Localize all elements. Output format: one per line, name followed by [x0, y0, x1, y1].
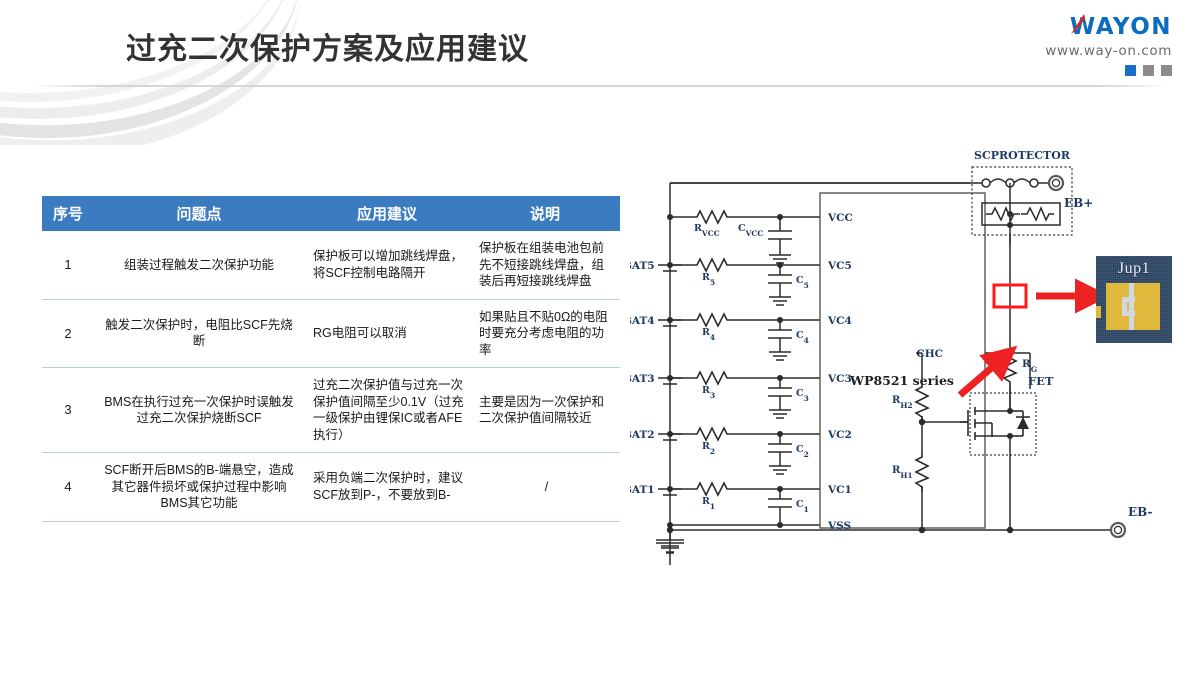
logo-square-3: [1161, 65, 1172, 76]
cell-no: 3: [42, 368, 94, 453]
label-r1: R1: [702, 496, 715, 511]
label-c2: C2: [796, 444, 809, 459]
terminal-eb-plus: EB+: [1064, 196, 1093, 210]
table-row: 1组装过程触发二次保护功能保护板可以增加跳线焊盘，将SCF控制电路隔开保护板在组…: [42, 231, 620, 299]
table-body: 1组装过程触发二次保护功能保护板可以增加跳线焊盘，将SCF控制电路隔开保护板在组…: [42, 231, 620, 521]
table-row: 3BMS在执行过充一次保护时误触发过充二次保护烧断SCF过充二次保护值与过充一次…: [42, 368, 620, 453]
label-c3: C3: [796, 388, 809, 403]
pin-vcc: VCC: [827, 212, 853, 224]
label-bat4: BAT4: [630, 315, 655, 327]
label-r2: R2: [702, 441, 715, 456]
pin-vc2: VC2: [827, 429, 852, 441]
label-r3: R3: [702, 385, 715, 400]
logo-url: www.way-on.com: [992, 43, 1172, 59]
cell-no: 4: [42, 453, 94, 522]
pin-chc: CHC: [916, 348, 943, 360]
circuit-schematic: BAT5 BAT4 BAT3 BAT2 BAT1: [630, 135, 1190, 565]
label-c4: C4: [796, 330, 809, 345]
cell-issue: SCF断开后BMS的B-端悬空，造成其它器件损坏或保护过程中影响BMS其它功能: [94, 453, 304, 522]
cell-no: 1: [42, 231, 94, 299]
pin-vc5: VC5: [827, 260, 852, 272]
protector-label: SCPROTECTOR: [974, 149, 1071, 162]
decorative-swoosh: [0, 0, 380, 145]
brand-logo: WAYON www.way-on.com: [992, 16, 1172, 76]
label-bat1: BAT1: [630, 484, 655, 496]
cell-no: 2: [42, 299, 94, 368]
label-bat5: BAT5: [630, 260, 655, 272]
cell-note: 保护板在组装电池包前先不短接跳线焊盘，组装后再短接跳线焊盘: [470, 231, 620, 299]
ic-label: WP8521 series: [849, 373, 954, 388]
cell-advice: 保护板可以增加跳线焊盘，将SCF控制电路隔开: [304, 231, 470, 299]
label-r5: R5: [702, 272, 715, 287]
cell-issue: BMS在执行过充一次保护时误触发过充二次保护烧断SCF: [94, 368, 304, 453]
label-bat3: BAT3: [630, 373, 655, 385]
label-cvcc: CVCC: [738, 223, 763, 238]
cell-advice: 过充二次保护值与过充一次保护值间隔至少0.1V（过充一级保护由锂保IC或者AFE…: [304, 368, 470, 453]
slide-canvas: 过充二次保护方案及应用建议 WAYON www.way-on.com 序号 问题…: [0, 0, 1200, 675]
logo-square-2: [1143, 65, 1154, 76]
rg-resistor: [1004, 348, 1016, 387]
terminal-eb-minus: EB-: [1128, 505, 1153, 519]
cell-note: 如果贴且不贴0Ω的电阻时要充分考虑电阻的功率: [470, 299, 620, 368]
pin-vc4: VC4: [827, 315, 852, 327]
table-row: 4SCF断开后BMS的B-端悬空，造成其它器件损坏或保护过程中影响BMS其它功能…: [42, 453, 620, 522]
label-c1: C1: [796, 499, 809, 514]
logo-square-1: [1125, 65, 1136, 76]
label-bat2: BAT2: [630, 429, 655, 441]
cell-issue: 组装过程触发二次保护功能: [94, 231, 304, 299]
table-row: 2触发二次保护时，电阻比SCF先烧断RG电阻可以取消如果贴且不贴0Ω的电阻时要充…: [42, 299, 620, 368]
label-c5: C5: [796, 275, 809, 290]
logo-wordmark: WAYON: [1070, 16, 1172, 39]
col-header-issue: 问题点: [94, 196, 304, 231]
jup1-label: Jup1: [1096, 260, 1172, 278]
pin-vc3: VC3: [827, 373, 852, 385]
logo-squares: [992, 65, 1172, 76]
col-header-no: 序号: [42, 196, 94, 231]
cell-issue: 触发二次保护时，电阻比SCF先烧断: [94, 299, 304, 368]
page-title: 过充二次保护方案及应用建议: [126, 24, 529, 68]
table-header-row: 序号 问题点 应用建议 说明: [42, 196, 620, 231]
label-fet: FET: [1028, 374, 1054, 388]
issue-table: 序号 问题点 应用建议 说明 1组装过程触发二次保护功能保护板可以增加跳线焊盘，…: [42, 196, 620, 522]
col-header-note: 说明: [470, 196, 620, 231]
jup1-pad-photo: Jup1: [1096, 256, 1172, 343]
cell-advice: 采用负端二次保护时，建议SCF放到P-，不要放到B-: [304, 453, 470, 522]
cell-advice: RG电阻可以取消: [304, 299, 470, 368]
cell-note: /: [470, 453, 620, 522]
label-rvcc: RVCC: [694, 223, 720, 238]
cell-note: 主要是因为一次保护和二次保护值间隔较近: [470, 368, 620, 453]
pin-vc1: VC1: [827, 484, 852, 496]
col-header-advice: 应用建议: [304, 196, 470, 231]
label-r4: R4: [702, 327, 715, 342]
header-divider: [30, 85, 1170, 87]
